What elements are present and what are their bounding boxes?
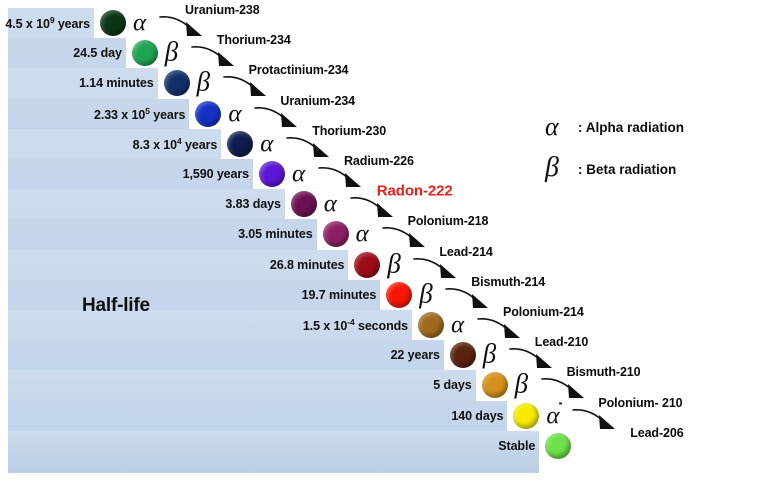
decay-symbol-alpha: α (260, 131, 273, 156)
half-life-exponent: 4 (177, 136, 182, 146)
decay-symbol-beta: β (515, 371, 528, 398)
nuclide-label: Thorium-230 (312, 124, 386, 138)
decay-symbol-alpha: α (324, 192, 337, 217)
decay-symbol-alpha: α (292, 162, 305, 187)
decay-symbol-beta: β (197, 69, 210, 96)
nuclide-marker (354, 252, 380, 278)
half-life-label: 1.14 minutes (79, 76, 154, 90)
nuclide-label: Polonium- 210 (598, 396, 682, 410)
nuclide-label: Polonium-218 (408, 214, 489, 228)
legend-text-alpha: : Alpha radiation (578, 120, 684, 135)
nuclide-marker (291, 191, 317, 217)
nuclide-marker (418, 312, 444, 338)
legend-text-beta: : Beta radiation (578, 162, 676, 177)
nuclide-marker (545, 433, 571, 459)
decay-symbol-alpha: α (356, 222, 369, 247)
half-life-label: 3.05 minutes (238, 227, 313, 241)
nuclide-label: Bismuth-210 (567, 365, 641, 379)
legend-symbol-beta: β (545, 154, 559, 182)
decay-chain-row: 3.83 daysαRadon-222 (0, 189, 770, 219)
decay-symbol-alpha: α (133, 11, 146, 36)
nuclide-label: Lead-214 (439, 245, 492, 259)
decay-chain-row: StableLead-206 (0, 431, 770, 461)
nuclide-label: Lead-210 (535, 335, 588, 349)
decay-symbol-beta: β (483, 341, 496, 368)
nuclide-label: Radium-226 (344, 154, 414, 168)
decay-chain-row: 26.8 minutesβLead-214 (0, 250, 770, 280)
nuclide-marker (259, 161, 285, 187)
decay-symbol-beta: β (165, 39, 178, 66)
half-life-label: 19.7 minutes (302, 288, 377, 302)
decay-chain-row: 22 yearsβLead-210 (0, 340, 770, 370)
nuclide-label: Thorium-234 (217, 33, 291, 47)
nuclide-label: Polonium-214 (503, 305, 584, 319)
nuclide-marker (100, 10, 126, 36)
half-life-exponent: -4 (347, 317, 354, 327)
nuclide-marker (323, 221, 349, 247)
half-life-label: 1,590 years (183, 167, 249, 181)
half-life-label: 3.83 days (225, 197, 280, 211)
decay-chain-diagram: 4.5 x 109 yearsαUranium-23824.5 dayβThor… (0, 0, 770, 490)
nuclide-label: Uranium-238 (185, 3, 260, 17)
nuclide-marker (227, 131, 253, 157)
nuclide-label: Bismuth-214 (471, 275, 545, 289)
nuclide-label: Lead-206 (630, 426, 683, 440)
decay-symbol-alpha: α (228, 101, 241, 126)
half-life-label: 5 days (433, 378, 471, 392)
nuclide-label-highlighted: Radon-222 (377, 183, 453, 200)
decay-chain-row: 3.05 minutesαPolonium-218 (0, 219, 770, 249)
decay-symbol-beta: β (419, 280, 432, 307)
decay-symbol-beta: β (387, 250, 400, 277)
nuclide-label: Protactinium-234 (249, 63, 349, 77)
nuclide-marker (482, 372, 508, 398)
nuclide-marker (450, 342, 476, 368)
half-life-label: 1.5 x 10-4 seconds (303, 317, 408, 333)
nuclide-marker (513, 403, 539, 429)
nuclide-marker (386, 282, 412, 308)
half-life-label: 8.3 x 104 years (133, 136, 218, 152)
half-life-exponent: 9 (50, 15, 55, 25)
decay-symbol-alpha: α (451, 313, 464, 338)
half-life-label: 24.5 day (73, 46, 122, 60)
decay-chain-row: 24.5 dayβThorium-234 (0, 38, 770, 68)
nuclide-marker (195, 101, 221, 127)
nuclide-label: Uranium-234 (280, 94, 355, 108)
half-life-label: 4.5 x 109 years (5, 15, 90, 31)
half-life-exponent: 5 (145, 106, 150, 116)
half-life-label: 140 days (451, 409, 503, 423)
half-life-label: 2.33 x 105 years (94, 106, 185, 122)
decay-chain-row: 1.14 minutesβProtactinium-234 (0, 68, 770, 98)
legend-symbol-alpha: α (545, 114, 559, 140)
nuclide-marker (132, 40, 158, 66)
half-life-label: 22 years (391, 348, 440, 362)
decay-chain-row: 4.5 x 109 yearsαUranium-238 (0, 8, 770, 38)
half-life-caption: Half-life (82, 295, 150, 317)
half-life-label: 26.8 minutes (270, 258, 345, 272)
decay-symbol-alpha: α (546, 403, 559, 428)
half-life-label: Stable (498, 439, 535, 453)
nuclide-marker (164, 70, 190, 96)
